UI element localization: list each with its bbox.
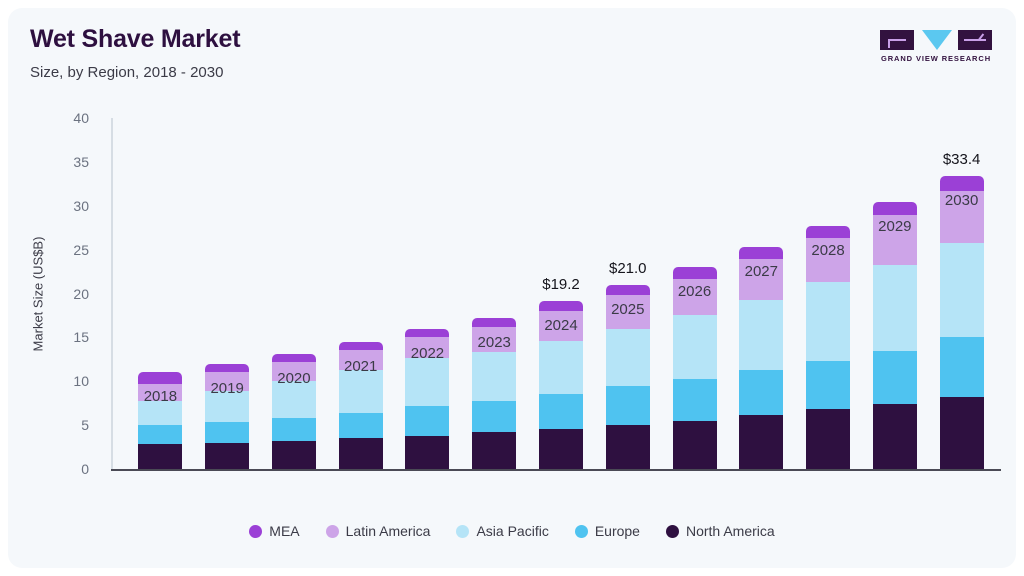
bar-value-label: $19.2 <box>542 276 580 293</box>
bar-segment-asia-pacific[interactable] <box>940 243 984 337</box>
y-axis-tick: 30 <box>73 198 89 214</box>
bar-segment-asia-pacific[interactable] <box>405 358 449 405</box>
legend-swatch-icon <box>249 525 262 538</box>
bar-group[interactable]: 2027 <box>739 247 783 469</box>
bar-group[interactable]: 2022 <box>405 329 449 469</box>
bar-segment-north-america[interactable] <box>339 438 383 469</box>
bar-segment-north-america[interactable] <box>873 404 917 469</box>
legend-item-north-america[interactable]: North America <box>666 523 775 539</box>
bar-group[interactable]: 2021 <box>339 342 383 469</box>
bar-segment-north-america[interactable] <box>205 443 249 469</box>
bar-stack <box>873 202 917 469</box>
bar-stack <box>138 372 182 469</box>
bar-segment-north-america[interactable] <box>539 429 583 469</box>
bar-segment-asia-pacific[interactable] <box>606 329 650 386</box>
bar-segment-europe[interactable] <box>806 361 850 409</box>
legend-label: North America <box>686 523 775 539</box>
bar-segment-europe[interactable] <box>940 337 984 397</box>
bar-segment-europe[interactable] <box>739 370 783 416</box>
bar-segment-asia-pacific[interactable] <box>339 370 383 413</box>
y-axis-line <box>111 118 113 469</box>
bar-segment-europe[interactable] <box>873 351 917 405</box>
bar-segment-north-america[interactable] <box>272 441 316 469</box>
bar-group[interactable]: 2026 <box>673 267 717 469</box>
grand-view-research-logo: GRAND VIEW RESEARCH <box>880 26 992 66</box>
bar-segment-europe[interactable] <box>272 418 316 441</box>
bar-segment-mea[interactable] <box>405 329 449 337</box>
bar-group[interactable]: 2018 <box>138 372 182 469</box>
y-axis-tick: 40 <box>73 110 89 126</box>
legend-item-europe[interactable]: Europe <box>575 523 640 539</box>
bar-group[interactable]: 2020 <box>272 354 316 469</box>
x-axis-tick: 2029 <box>878 218 911 235</box>
x-axis-tick: 2019 <box>210 380 243 397</box>
x-axis-tick: 2027 <box>745 263 778 280</box>
page-title: Wet Shave Market <box>30 25 240 54</box>
chart-card: Wet Shave Market Size, by Region, 2018 -… <box>8 8 1016 568</box>
bar-group[interactable]: 2023 <box>472 318 516 469</box>
bar-segment-europe[interactable] <box>405 406 449 436</box>
bar-group[interactable]: $33.42030 <box>940 176 984 469</box>
bar-segment-europe[interactable] <box>539 394 583 429</box>
logo-triangle-icon <box>922 30 952 50</box>
y-axis-tick: 10 <box>73 373 89 389</box>
bar-segment-mea[interactable] <box>940 176 984 191</box>
bar-segment-north-america[interactable] <box>405 436 449 469</box>
logo-text: GRAND VIEW RESEARCH <box>880 54 992 63</box>
bar-group[interactable]: 2029 <box>873 202 917 469</box>
chart-plot-area: Market Size (US$B) 0510152025303540 2018… <box>103 118 1001 471</box>
legend-label: Latin America <box>346 523 431 539</box>
bar-group[interactable]: 2019 <box>205 364 249 469</box>
legend-label: MEA <box>269 523 299 539</box>
bar-segment-europe[interactable] <box>205 422 249 443</box>
y-axis-tick: 25 <box>73 242 89 258</box>
legend-swatch-icon <box>666 525 679 538</box>
y-axis-tick: 35 <box>73 154 89 170</box>
bar-segment-europe[interactable] <box>673 379 717 421</box>
bar-segment-mea[interactable] <box>205 364 249 373</box>
bar-group[interactable]: $19.22024 <box>539 301 583 469</box>
bar-segment-mea[interactable] <box>339 342 383 350</box>
bar-segment-north-america[interactable] <box>673 421 717 469</box>
bar-segment-mea[interactable] <box>272 354 316 362</box>
legend-item-asia-pacific[interactable]: Asia Pacific <box>456 523 548 539</box>
bar-segment-north-america[interactable] <box>606 425 650 469</box>
bar-segment-north-america[interactable] <box>472 432 516 469</box>
page-subtitle: Size, by Region, 2018 - 2030 <box>30 64 223 81</box>
bar-segment-europe[interactable] <box>339 413 383 438</box>
bar-segment-asia-pacific[interactable] <box>673 315 717 378</box>
bar-segment-north-america[interactable] <box>138 444 182 469</box>
bar-stack <box>806 226 850 469</box>
y-axis-tick: 0 <box>81 461 89 477</box>
x-axis-tick: 2025 <box>611 301 644 318</box>
bar-segment-north-america[interactable] <box>806 409 850 469</box>
x-axis-tick: 2018 <box>144 388 177 405</box>
bar-segment-mea[interactable] <box>806 226 850 238</box>
bar-segment-asia-pacific[interactable] <box>539 341 583 394</box>
legend-swatch-icon <box>326 525 339 538</box>
bar-segment-asia-pacific[interactable] <box>806 282 850 361</box>
bar-segment-mea[interactable] <box>138 372 182 383</box>
legend-swatch-icon <box>456 525 469 538</box>
bar-segment-asia-pacific[interactable] <box>873 265 917 351</box>
x-axis-line <box>111 469 1001 471</box>
bar-segment-asia-pacific[interactable] <box>739 300 783 370</box>
bar-stack <box>739 247 783 469</box>
bar-segment-mea[interactable] <box>673 267 717 278</box>
x-axis-tick: 2021 <box>344 358 377 375</box>
bar-value-label: $21.0 <box>609 260 647 277</box>
legend-item-mea[interactable]: MEA <box>249 523 299 539</box>
bar-segment-mea[interactable] <box>606 285 650 296</box>
bar-segment-mea[interactable] <box>739 247 783 259</box>
logo-left-mark-icon <box>880 30 914 50</box>
legend-label: Europe <box>595 523 640 539</box>
bar-stack <box>940 176 984 469</box>
bar-segment-europe[interactable] <box>606 386 650 425</box>
bar-segment-north-america[interactable] <box>940 397 984 469</box>
bar-segment-europe[interactable] <box>472 401 516 433</box>
bar-segment-mea[interactable] <box>472 318 516 327</box>
y-axis-tick: 15 <box>73 329 89 345</box>
logo-right-mark-icon <box>958 30 992 50</box>
x-axis-tick: 2028 <box>811 242 844 259</box>
bar-segment-north-america[interactable] <box>739 415 783 469</box>
x-axis-tick: 2030 <box>945 192 978 209</box>
bar-group[interactable]: $21.02025 <box>606 285 650 469</box>
y-axis-label: Market Size (US$B) <box>31 237 46 352</box>
bar-segment-asia-pacific[interactable] <box>472 352 516 400</box>
x-axis-tick: 2024 <box>544 317 577 334</box>
bar-segment-mea[interactable] <box>873 202 917 215</box>
x-axis-tick: 2022 <box>411 345 444 362</box>
y-axis-tick: 20 <box>73 286 89 302</box>
bar-value-label: $33.4 <box>943 151 981 168</box>
bar-segment-mea[interactable] <box>539 301 583 312</box>
x-axis-tick: 2020 <box>277 370 310 387</box>
legend-label: Asia Pacific <box>476 523 548 539</box>
bar-segment-europe[interactable] <box>138 425 182 444</box>
x-axis-tick: 2023 <box>478 334 511 351</box>
legend-swatch-icon <box>575 525 588 538</box>
y-axis-tick: 5 <box>81 417 89 433</box>
x-axis-tick: 2026 <box>678 283 711 300</box>
chart-legend: MEALatin AmericaAsia PacificEuropeNorth … <box>8 523 1016 539</box>
legend-item-latin-america[interactable]: Latin America <box>326 523 431 539</box>
bar-group[interactable]: 2028 <box>806 226 850 469</box>
